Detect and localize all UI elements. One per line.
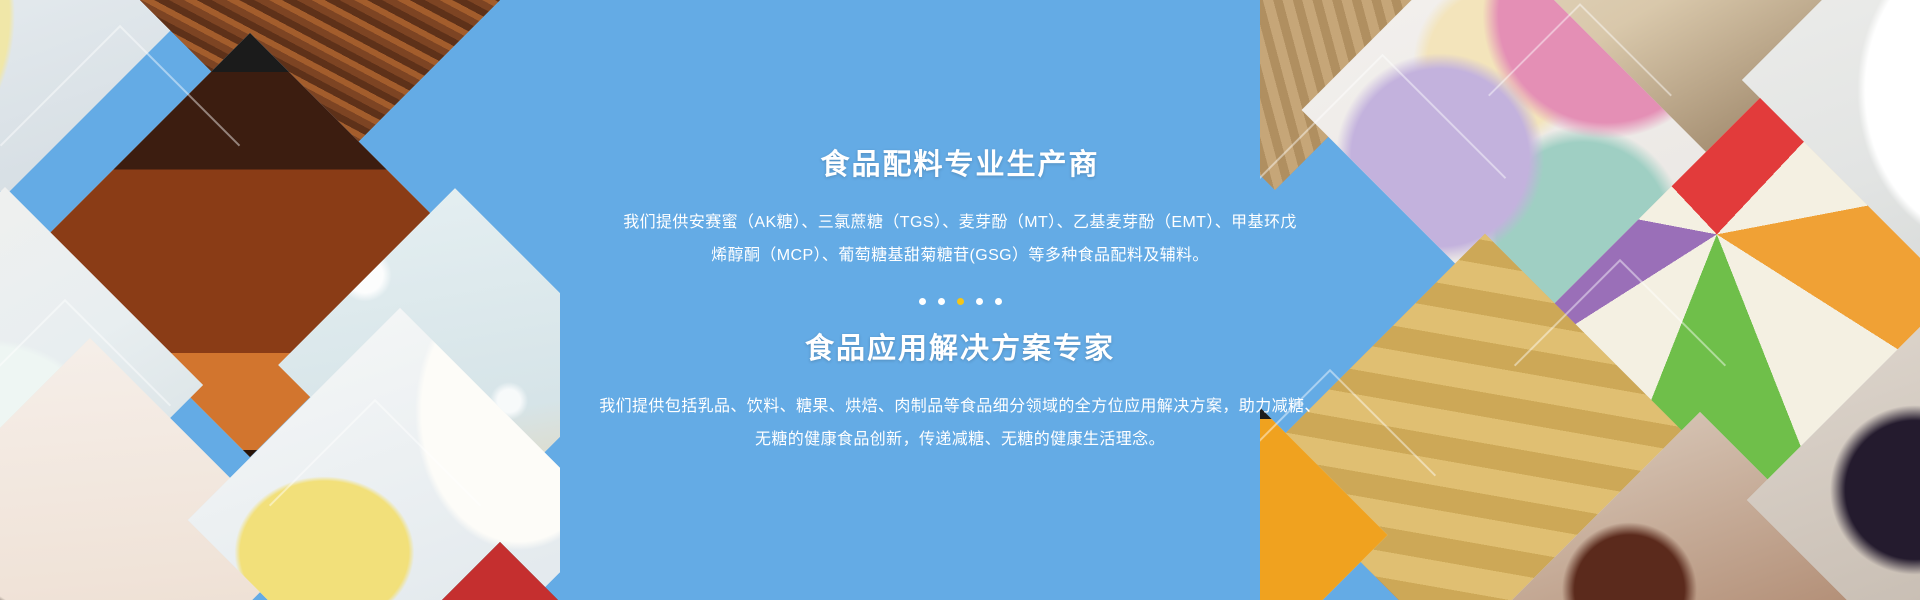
paragraph-producer-line-2: 烯醇酮（MCP）、葡萄糖基甜菊糖苷(GSG）等多种食品配料及辅料。 <box>565 239 1355 272</box>
divider-dot-2 <box>938 298 945 305</box>
divider-dot-accent <box>957 298 964 305</box>
promo-banner: 食品配料专业生产商 我们提供安赛蜜（AK糖）、三氯蔗糖（TGS）、麦芽酚（MT）… <box>0 0 1920 600</box>
headline-producer: 食品配料专业生产商 <box>820 151 1099 180</box>
divider-dot-1 <box>919 298 926 305</box>
left-photo-mosaic <box>0 0 560 600</box>
paragraph-solution: 我们提供包括乳品、饮料、糖果、烘焙、肉制品等食品细分领域的全方位应用解决方案，助… <box>565 390 1355 456</box>
paragraph-solution-line-2: 无糖的健康食品创新，传递减糖、无糖的健康生活理念。 <box>565 423 1355 456</box>
paragraph-solution-line-1: 我们提供包括乳品、饮料、糖果、烘焙、肉制品等食品细分领域的全方位应用解决方案，助… <box>565 390 1355 423</box>
divider-dot-5 <box>995 298 1002 305</box>
banner-content: 食品配料专业生产商 我们提供安赛蜜（AK糖）、三氯蔗糖（TGS）、麦芽酚（MT）… <box>550 0 1370 600</box>
divider-dot-4 <box>976 298 983 305</box>
paragraph-producer-line-1: 我们提供安赛蜜（AK糖）、三氯蔗糖（TGS）、麦芽酚（MT）、乙基麦芽酚（EMT… <box>565 206 1355 239</box>
dot-divider <box>919 298 1002 305</box>
headline-solution-expert: 食品应用解决方案专家 <box>805 335 1115 364</box>
paragraph-producer: 我们提供安赛蜜（AK糖）、三氯蔗糖（TGS）、麦芽酚（MT）、乙基麦芽酚（EMT… <box>565 206 1355 272</box>
